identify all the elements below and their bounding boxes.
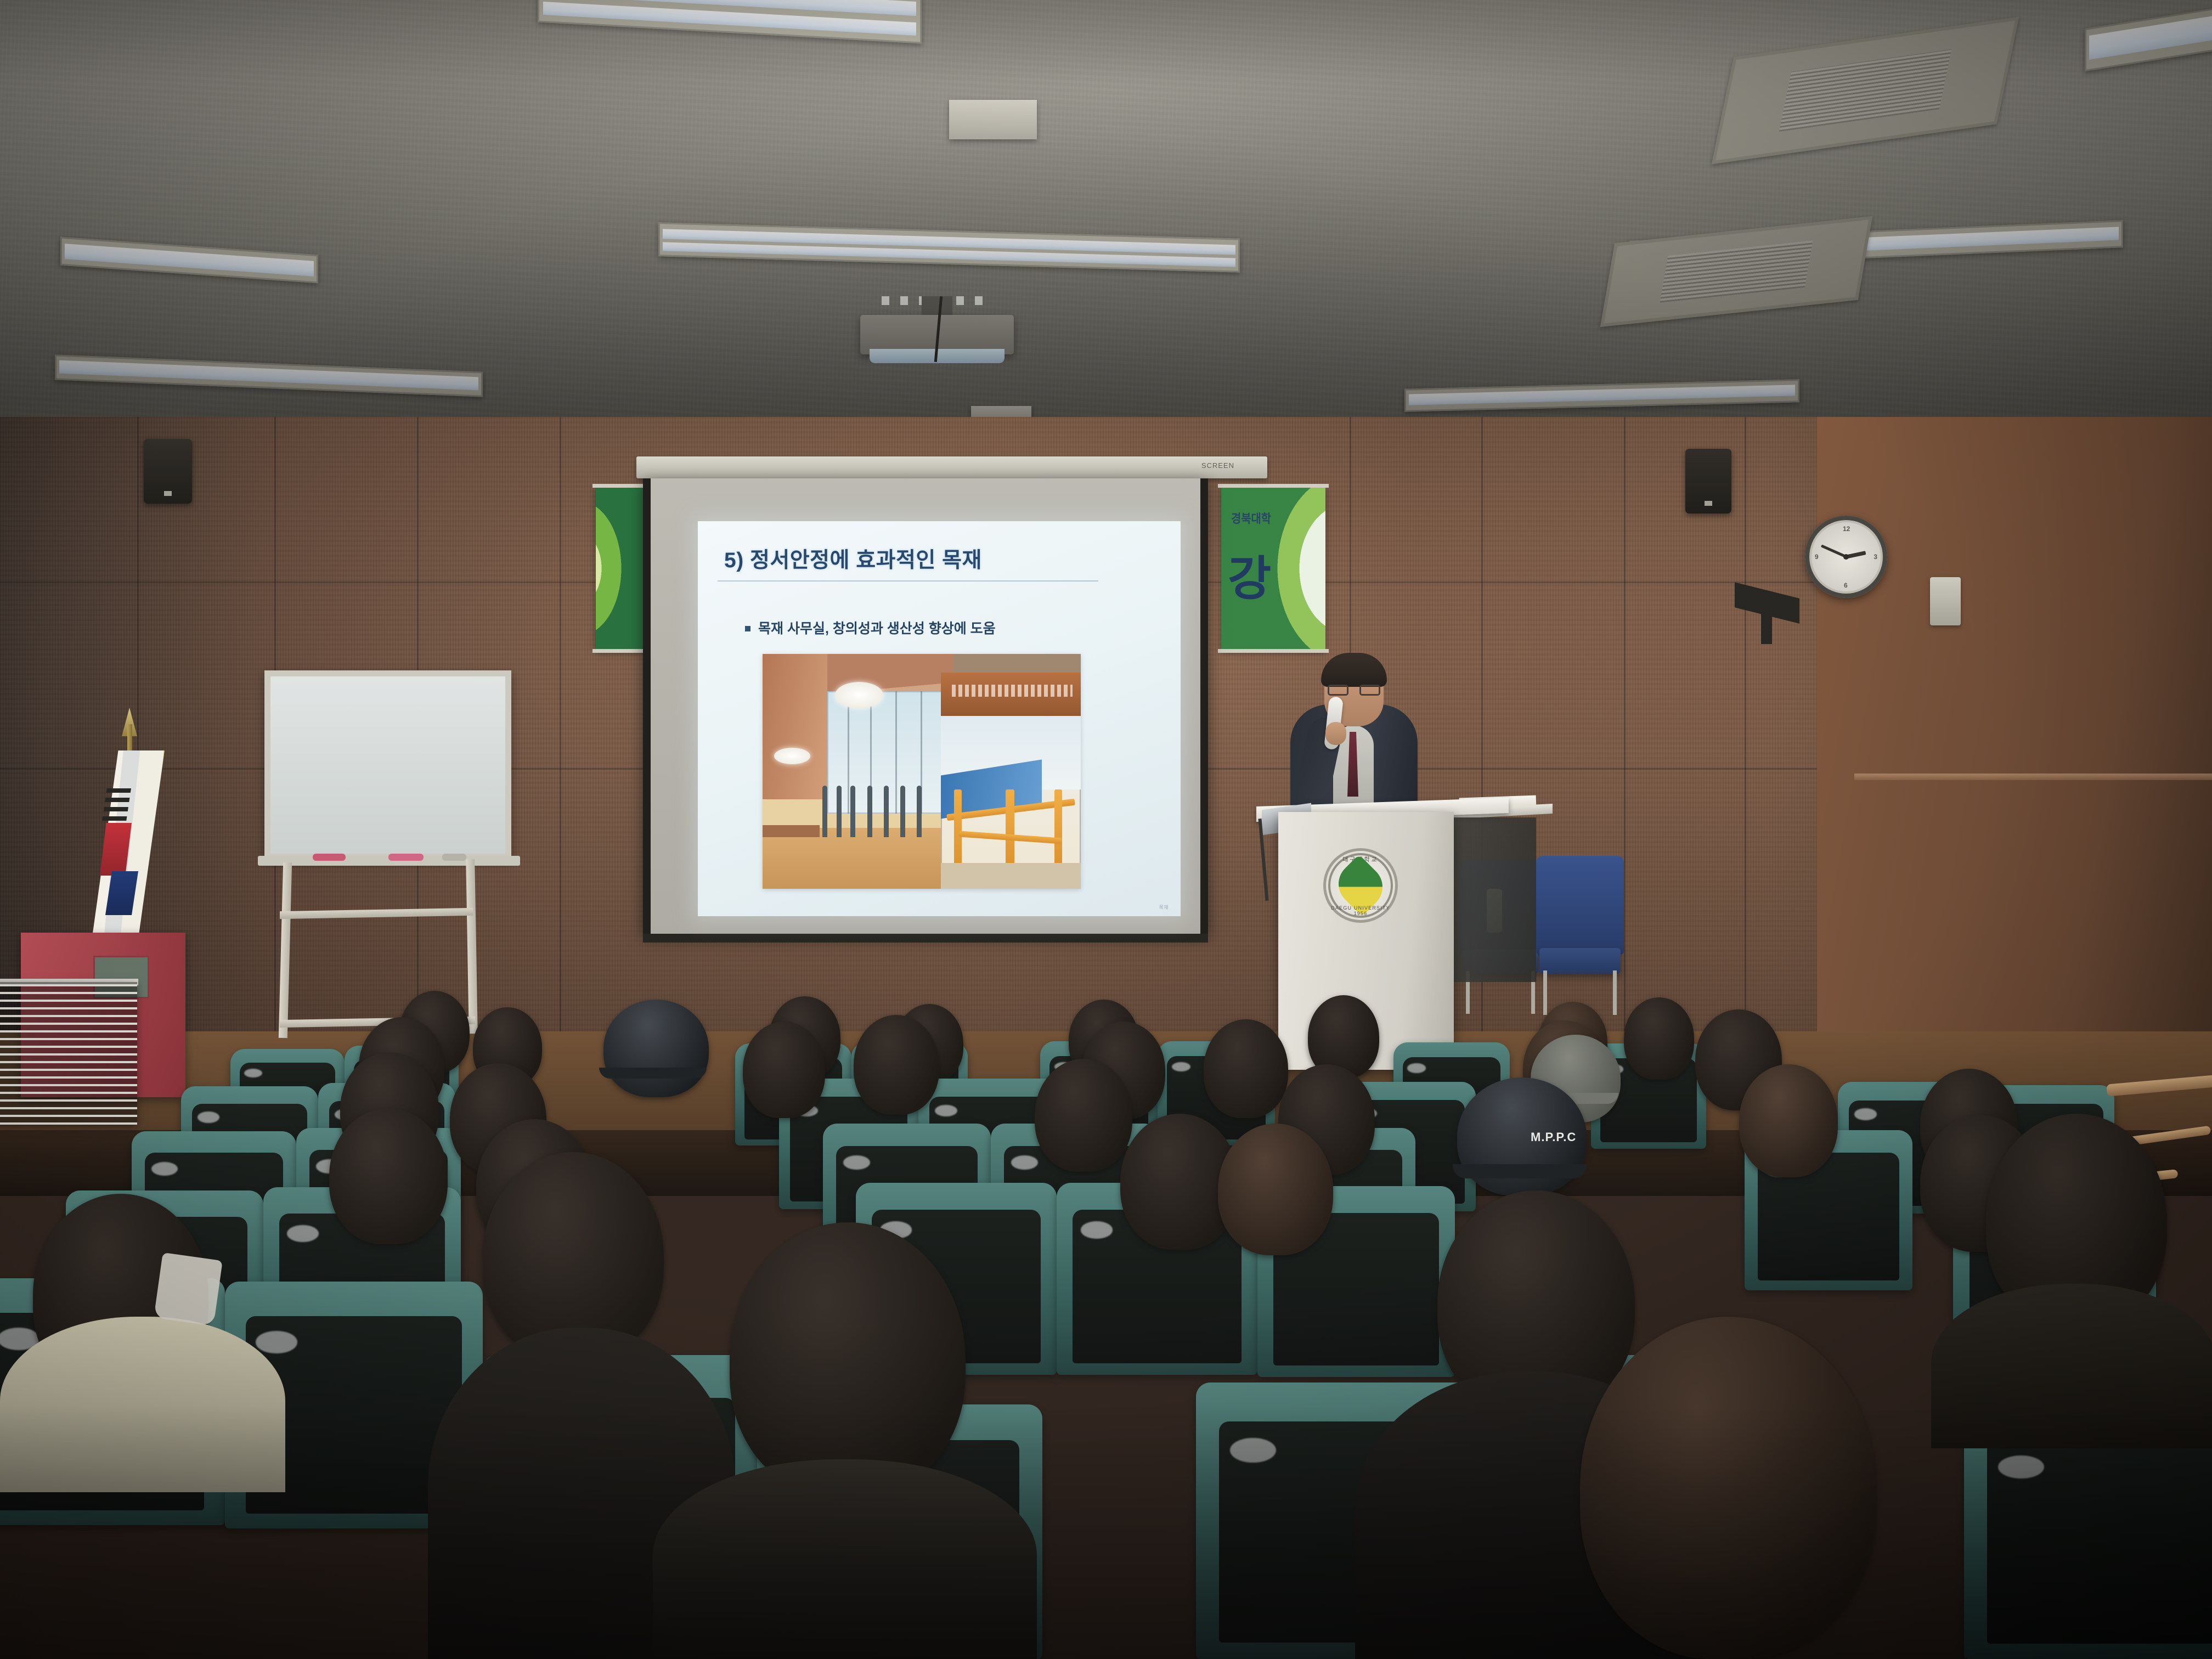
slide-title-rule <box>718 580 1098 582</box>
audience-head <box>1035 1059 1132 1172</box>
speaker-bracket <box>1761 601 1772 644</box>
lecture-hall-scene: 경북대학 강 SCREEN 5) 정서안정에 효과적인 목재 목재 사무실, 창… <box>0 0 2212 1659</box>
photo-floor <box>941 863 1081 889</box>
clock-minute-hand <box>1820 544 1847 558</box>
whiteboard <box>264 670 511 860</box>
audience-head <box>1624 997 1694 1080</box>
photo-caption-strip <box>952 685 1072 697</box>
cap-bill <box>1453 1164 1587 1178</box>
cap-badge-text: M.P.P.C <box>1531 1130 1576 1144</box>
slide-bullet-text: 목재 사무실, 창의성과 생산성 향상에 도움 <box>758 621 996 636</box>
audience-shoulder <box>1931 1284 2212 1448</box>
presenter-hair <box>1321 653 1387 687</box>
chair-seat <box>1539 948 1620 973</box>
wall-speaker-right <box>1685 449 1731 513</box>
seat-highlight <box>1081 1221 1113 1239</box>
screen-housing: SCREEN <box>636 456 1267 478</box>
bullet-marker-icon <box>745 626 751 631</box>
seat-highlight <box>198 1111 219 1123</box>
chair-back <box>1536 856 1624 955</box>
clock-numeral: 3 <box>1874 553 1877 561</box>
ceiling-shading <box>0 0 2212 450</box>
slide-corner-note: 목재 <box>1159 904 1169 911</box>
seat-highlight <box>1230 1438 1276 1463</box>
whiteboard-marker[interactable] <box>388 854 424 861</box>
emblem-english-text: DAEGU UNIVERSITY 1956 <box>1323 905 1398 916</box>
speaker-led <box>1705 501 1712 506</box>
clock-face: 12 3 6 9 <box>1812 522 1881 591</box>
screen-edge-right <box>1200 478 1208 934</box>
banner-headline: 강 <box>1228 540 1271 608</box>
glasses-icon <box>1328 685 1380 696</box>
audience-head <box>743 1022 825 1118</box>
banner-right: 경북대학 강 <box>1221 486 1325 651</box>
slide-photo-atrium <box>763 654 953 889</box>
slide-photo-timber-hall <box>941 673 1081 889</box>
photo-people-group <box>820 786 938 837</box>
drying-rack <box>0 982 137 1125</box>
presenter <box>1290 657 1418 822</box>
speaker-led <box>164 491 172 496</box>
clock-numeral: 6 <box>1844 582 1848 589</box>
seat-highlight <box>256 1331 297 1353</box>
banner-rod <box>1218 649 1329 653</box>
banner-subtext: 경북대학 <box>1231 509 1271 527</box>
projected-slide: 5) 정서안정에 효과적인 목재 목재 사무실, 창의성과 생산성 향상에 도움 <box>698 521 1181 916</box>
clock-numeral: 12 <box>1843 525 1850 533</box>
seat-highlight <box>843 1155 870 1170</box>
whiteboard-marker[interactable] <box>313 854 346 861</box>
audience-head-foreground <box>730 1222 966 1497</box>
presenter-hand <box>1325 722 1346 745</box>
seat-highlight <box>1172 1062 1190 1071</box>
university-emblem: 대구대학교 DAEGU UNIVERSITY 1956 <box>1323 848 1398 923</box>
screen-edge-left <box>643 478 651 934</box>
wall-trim <box>1854 774 2212 780</box>
seat-highlight <box>935 1105 957 1116</box>
audience-head <box>1218 1124 1333 1255</box>
audience-head-foreground <box>1580 1317 1876 1659</box>
seat-highlight <box>1998 1455 2044 1479</box>
podium-side-opening <box>1448 817 1536 982</box>
wall-speaker-left <box>144 439 192 504</box>
banner-rod <box>1218 484 1329 488</box>
audience-shoulder <box>653 1459 1037 1659</box>
audience-head <box>329 1108 448 1244</box>
screen-bottom-bar <box>643 934 1208 943</box>
seat-highlight <box>1407 1063 1426 1073</box>
seat-highlight <box>151 1162 178 1176</box>
audience-head <box>1204 1019 1288 1118</box>
face-mask <box>154 1252 223 1326</box>
wall-clock: 12 3 6 9 <box>1805 516 1887 598</box>
audience-shoulder <box>0 1317 285 1492</box>
cap-bill <box>599 1068 707 1079</box>
wall-mounted-box <box>1930 577 1961 625</box>
audience-head-with-cap <box>603 1000 709 1097</box>
photo-header-band <box>941 673 1081 716</box>
slide-title: 5) 정서안정에 효과적인 목재 <box>724 543 1159 574</box>
projection-screen: 5) 정서안정에 효과적인 목재 목재 사무실, 창의성과 생산성 향상에 도움 <box>643 478 1208 934</box>
slide-figure <box>763 654 1081 889</box>
audience-head <box>854 1015 939 1115</box>
seat-highlight <box>1011 1155 1038 1170</box>
slide-bullet: 목재 사무실, 창의성과 생산성 향상에 도움 <box>745 618 1159 637</box>
whiteboard-marker[interactable] <box>442 854 466 861</box>
clock-center-pin <box>1843 554 1849 560</box>
right-wall-panel <box>1817 417 2212 1064</box>
clock-numeral: 9 <box>1815 553 1819 561</box>
photo-pendant-light <box>774 748 810 764</box>
seat-highlight <box>287 1225 319 1242</box>
photo-handrail <box>763 825 820 837</box>
screen-brand-label: SCREEN <box>1201 461 1234 470</box>
seat-highlight <box>1854 1108 1876 1120</box>
photo-wood-wall <box>763 654 827 799</box>
stage-chair[interactable] <box>1536 856 1624 1015</box>
audience-head <box>1739 1064 1838 1177</box>
